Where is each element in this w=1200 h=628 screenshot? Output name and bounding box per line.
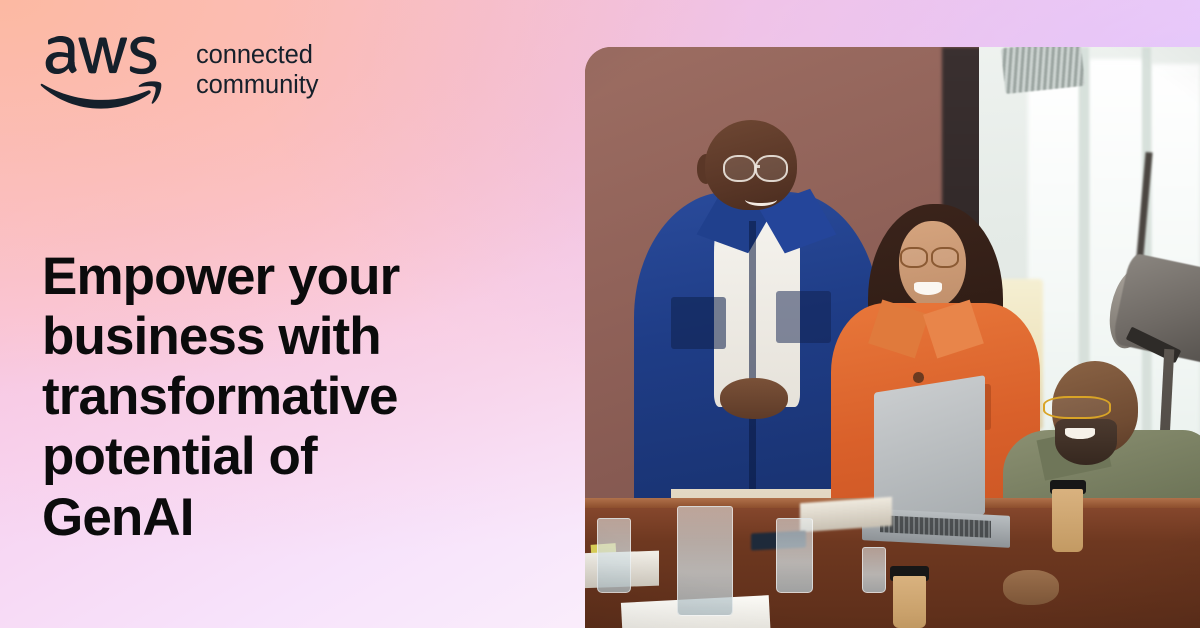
photo-person-standing-man-glasses [723,155,756,182]
photo-water-glass [862,547,887,593]
photo-person-woman-smile [914,282,942,295]
photo-coffee-cup [893,576,927,628]
photo-person-seated-man-hand [1003,570,1058,605]
promo-banner: connected community Empower your busines… [0,0,1200,628]
photo-person-standing-man-pocket [671,297,726,349]
photo-person-standing-man-placket [749,221,756,512]
connected-community-wordmark: connected community [196,36,318,100]
photo-person-standing-man-glasses-bridge [755,165,761,168]
photo-water-glass [597,518,631,594]
photo-person-woman-button [913,372,923,382]
aws-smile-logo [40,36,162,109]
photo-person-woman-glasses [931,247,959,268]
photo-coffee-cup [1052,489,1083,553]
photo-person-standing-man-hands [720,378,788,419]
photo-person-seated-man-glasses [1043,396,1111,419]
hero-photo [585,47,1200,628]
photo-person-standing-man-pocket [776,291,831,343]
photo-water-glass [776,518,813,594]
aws-connected-community-logo[interactable]: connected community [40,36,318,109]
photo-person-standing-man-glasses [755,155,788,182]
photo-person-woman-glasses [900,247,928,268]
page-title: Empower your business with transformativ… [42,247,552,548]
photo-water-glass [677,506,732,616]
